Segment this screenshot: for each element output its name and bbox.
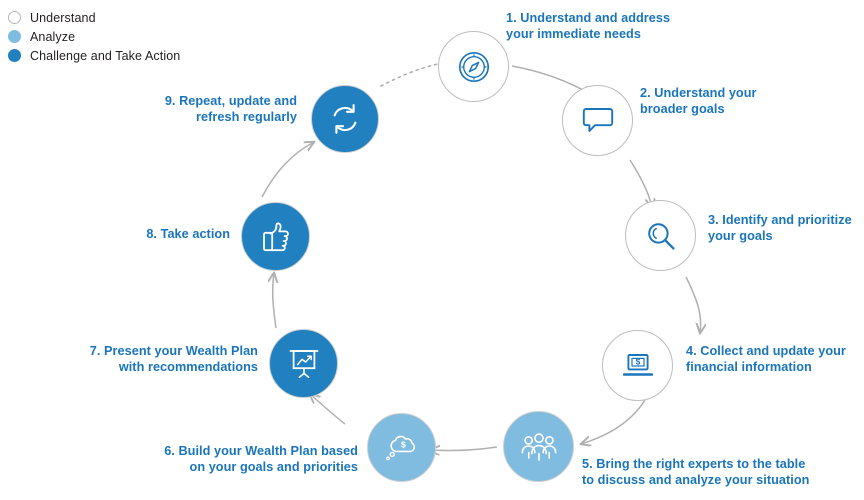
step-node-7[interactable]: [269, 329, 338, 398]
compass-icon: [457, 50, 491, 84]
legend-item-label: Analyze: [30, 30, 75, 44]
step-node-2[interactable]: [562, 85, 633, 156]
process-cycle-diagram: Understand Analyze Challenge and Take Ac…: [0, 0, 864, 500]
connector-arrows: [0, 0, 864, 500]
arrow-6-to-7: [310, 394, 345, 424]
step-caption-7: 7. Present your Wealth Plan with recomme…: [62, 343, 258, 376]
legend-item-analyze: Analyze: [8, 27, 180, 46]
step-caption-9: 9. Repeat, update and refresh regularly: [135, 93, 297, 126]
step-node-9[interactable]: [311, 85, 379, 153]
step-caption-2: 2. Understand your broader goals: [640, 85, 830, 118]
step-caption-8: 8. Take action: [100, 226, 230, 242]
refresh-cycle-icon: [328, 102, 362, 136]
arrow-4-to-5: [581, 400, 645, 444]
svg-text:$: $: [401, 439, 406, 449]
presentation-chart-icon: [287, 347, 321, 381]
svg-text:$: $: [635, 356, 640, 366]
arrow-7-to-8: [273, 273, 276, 328]
step-node-4[interactable]: $: [602, 330, 673, 401]
arrow-5-to-6: [430, 447, 497, 451]
step-node-6[interactable]: $: [367, 413, 436, 482]
step-node-3[interactable]: [625, 200, 696, 271]
legend-item-label: Understand: [30, 11, 96, 25]
circle-filled-icon: [8, 30, 21, 43]
arrow-8-to-9: [262, 142, 314, 197]
legend-item-challenge: Challenge and Take Action: [8, 46, 180, 65]
step-node-1[interactable]: [438, 31, 509, 102]
thumbs-up-icon: [259, 221, 293, 253]
laptop-dollar-icon: $: [621, 351, 655, 381]
legend-item-understand: Understand: [8, 8, 180, 27]
step-caption-6: 6. Build your Wealth Plan based on your …: [140, 443, 358, 476]
step-node-8[interactable]: [241, 202, 310, 271]
step-node-5[interactable]: [503, 411, 574, 482]
arrow-3-to-4: [686, 277, 701, 333]
step-caption-5: 5. Bring the right experts to the table …: [582, 456, 864, 489]
step-caption-3: 3. Identify and prioritize your goals: [708, 212, 864, 245]
legend: Understand Analyze Challenge and Take Ac…: [8, 8, 180, 65]
magnifying-glass-icon: [645, 220, 677, 252]
step-caption-1: 1. Understand and address your immediate…: [506, 10, 706, 43]
thought-bubble-dollar-icon: $: [383, 433, 421, 463]
speech-bubble-icon: [582, 106, 614, 136]
arrow-9-to-1-dotted: [381, 64, 438, 86]
circle-outline-icon: [8, 11, 21, 24]
step-caption-4: 4. Collect and update your financial inf…: [686, 343, 864, 376]
people-group-icon: [519, 431, 559, 463]
circle-filled-icon: [8, 49, 21, 62]
legend-item-label: Challenge and Take Action: [30, 49, 180, 63]
